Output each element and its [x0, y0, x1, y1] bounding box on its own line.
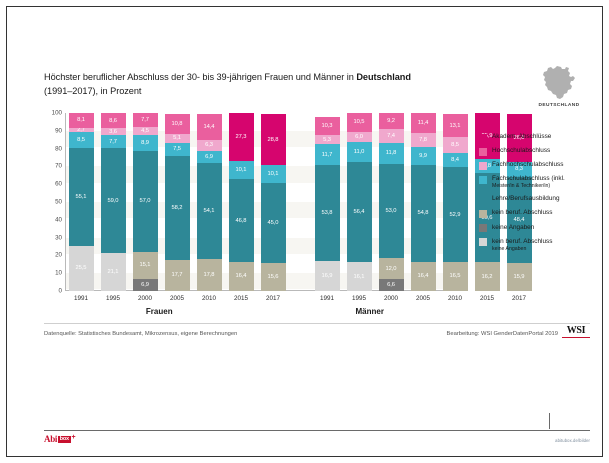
bar-segment-hochschule[interactable]: 10,5	[347, 113, 372, 132]
bar-segment-kein_keine[interactable]: 16,1	[347, 262, 372, 291]
bar-segment-lehre[interactable]: 57,0	[133, 151, 158, 252]
bar-segment-value: 6,6	[387, 282, 395, 288]
bar-segment-value: 16,9	[322, 273, 333, 279]
legend-label: Hochschulabschluss	[492, 147, 550, 155]
bar-segment-value: 8,6	[109, 118, 117, 124]
bar-segment-value: 12,0	[386, 266, 397, 272]
title-text-bold: Deutschland	[356, 72, 411, 82]
bar-segment-value: 7,7	[109, 139, 117, 145]
bar-segment-keine_angaben[interactable]: 6,6	[379, 279, 404, 291]
x-label-group: 1991199520002005201020152017	[311, 295, 535, 302]
bar-segment-fachschule[interactable]: 11,0	[347, 142, 372, 162]
x-tick-label: 2017	[507, 295, 532, 302]
bar-segment-value: 7,7	[141, 117, 149, 123]
bar-segment-kein_abschluss[interactable]: 16,5	[443, 262, 468, 291]
bar-segment-fachschule[interactable]: 7,5	[165, 143, 190, 156]
bar-segment-lehre[interactable]: 55,1	[69, 148, 94, 246]
x-tick-label: 1995	[101, 295, 126, 302]
legend-swatch-icon	[479, 238, 487, 246]
bar-segment-value: 8,1	[77, 117, 85, 123]
legend-label: Fachschulabschluss (inkl.Meister/in & Te…	[492, 175, 565, 190]
bar-segment-fachschule[interactable]: 10,1	[261, 165, 286, 183]
x-tick-label: 2015	[475, 295, 500, 302]
bar-segment-hochschule[interactable]: 14,4	[197, 114, 222, 140]
bar-segment-value: 54,1	[204, 208, 215, 214]
legend-item-fachschule[interactable]: Fachschulabschluss (inkl.Meister/in & Te…	[479, 175, 599, 190]
stacked-bar[interactable]: 10,85,17,558,217,7	[165, 113, 190, 291]
abi-logo-word2: box	[58, 436, 71, 443]
bar-segment-value: 58,2	[172, 205, 183, 211]
y-tick-label: 0	[59, 288, 62, 295]
bar-segment-value: 7,5	[173, 146, 181, 152]
bar-segment-value: 14,4	[204, 124, 215, 130]
bar-segment-value: 4,5	[141, 128, 149, 134]
bar-segment-lehre[interactable]: 53,8	[315, 165, 340, 261]
bar-segment-value: 3,6	[109, 129, 117, 135]
legend-swatch-icon	[479, 196, 487, 204]
group-gap	[289, 295, 311, 302]
stacked-bar[interactable]: 28,810,145,015,6	[261, 113, 286, 291]
bar-segment-fachhochschule[interactable]: 6,3	[197, 140, 222, 151]
bottom-divider	[44, 430, 590, 431]
bar-segment-fachschule[interactable]: 11,8	[379, 143, 404, 164]
bar-segment-kein_keine[interactable]: 21,1	[101, 253, 126, 291]
legend-item-akadem[interactable]: Akadem. Abschlüsse	[479, 133, 599, 142]
bar-segment-kein_abschluss[interactable]: 15,9	[507, 263, 532, 291]
legend-label: kein beruf. Abschluss	[492, 209, 552, 217]
bar-segment-kein_abschluss[interactable]: 17,7	[165, 260, 190, 292]
abi-logo-plus: +	[71, 434, 75, 441]
bar-segment-lehre[interactable]: 52,9	[443, 167, 468, 261]
wsi-logo: WSI	[562, 326, 590, 338]
legend-label: Akadem. Abschlüsse	[492, 133, 551, 141]
bar-segment-value: 16,4	[236, 273, 247, 279]
x-tick-label: 2015	[229, 295, 254, 302]
bar-segment-value: 52,9	[450, 212, 461, 218]
bar-segment-lehre[interactable]: 53,0	[379, 164, 404, 258]
legend-label: Fachhochschulabschluss	[492, 161, 563, 169]
bar-segment-value: 13,1	[450, 123, 461, 129]
bar-segment-kein_abschluss[interactable]: 16,4	[411, 262, 436, 291]
legend-swatch-icon	[479, 224, 487, 232]
group-gap	[254, 307, 276, 316]
legend-swatch-icon	[479, 134, 487, 142]
bar-segment-hochschule[interactable]: 9,2	[379, 113, 404, 129]
bar-segment-value: 17,7	[172, 272, 183, 278]
bar-segment-kein_keine[interactable]: 25,5	[69, 246, 94, 291]
bar-segment-kein_abschluss[interactable]: 16,4	[229, 262, 254, 291]
x-tick-label: 2005	[165, 295, 190, 302]
editor-note: Bearbeitung: WSI GenderDatenPortal 2019	[447, 331, 559, 337]
bar-segment-value: 15,9	[514, 274, 525, 280]
legend-label: kein beruf. Abschlusskeine Angaben	[492, 238, 552, 253]
x-tick-label: 2000	[379, 295, 404, 302]
bar-segment-value: 15,6	[268, 274, 279, 280]
bar-segment-kein_abschluss[interactable]: 15,6	[261, 263, 286, 291]
legend-swatch-icon	[479, 162, 487, 170]
bar-segment-hochschule[interactable]: 11,4	[411, 113, 436, 133]
bar-segment-fachschule[interactable]: 10,1	[229, 161, 254, 179]
bar-segment-value: 6,0	[355, 134, 363, 140]
bar-segment-value: 8,9	[141, 140, 149, 146]
x-tick-label: 2010	[443, 295, 468, 302]
x-tick-label: 1995	[347, 295, 372, 302]
bar-segment-fachschule[interactable]: 8,4	[443, 153, 468, 168]
bar-segment-value: 10,5	[354, 119, 365, 125]
bar-segment-fachschule[interactable]: 8,9	[133, 135, 158, 151]
legend-item-kein_abschluss[interactable]: kein beruf. Abschluss	[479, 209, 599, 218]
bar-segment-lehre[interactable]: 45,0	[261, 183, 286, 263]
bar-segment-fachschule[interactable]: 8,5	[69, 132, 94, 147]
bar-segment-value: 6,3	[205, 142, 213, 148]
bar-segment-value: 8,5	[451, 142, 459, 148]
bar-segment-value: 56,4	[354, 209, 365, 215]
x-tick-label: 1991	[69, 295, 94, 302]
bar-segment-value: 25,5	[76, 265, 87, 271]
x-tick-label: 2005	[411, 295, 436, 302]
bar-segment-kein_abschluss[interactable]: 12,0	[379, 258, 404, 279]
y-tick-label: 60	[55, 181, 62, 188]
bar-segment-fachschule[interactable]: 9,9	[411, 147, 436, 165]
legend-label-sub: keine Angaben	[492, 246, 552, 253]
bar-segment-fachhochschule[interactable]: 6,0	[347, 132, 372, 143]
bar-segment-hochschule[interactable]: 10,8	[165, 114, 190, 133]
legend-swatch-icon	[479, 176, 487, 184]
bar-segment-lehre[interactable]: 56,4	[347, 162, 372, 262]
group-title-frauen: Frauen	[65, 307, 254, 316]
legend-label: keine Angaben	[492, 224, 534, 232]
bar-segment-fachschule[interactable]: 6,9	[197, 151, 222, 163]
stacked-bar[interactable]: 10,56,011,056,416,1	[347, 113, 372, 291]
abi-logo-word1: Abi	[44, 434, 57, 444]
legend-item-fachhochschule[interactable]: Fachhochschulabschluss	[479, 161, 599, 170]
bar-segment-value: 54,8	[418, 210, 429, 216]
corner-tick	[549, 413, 550, 429]
bar-segment-value: 46,8	[236, 218, 247, 224]
bar-segment-value: 8,5	[77, 137, 85, 143]
bar-segment-kein_keine[interactable]: 16,9	[315, 261, 340, 291]
bar-segment-value: 7,4	[387, 133, 395, 139]
bar-segment-akadem[interactable]: 28,8	[261, 114, 286, 165]
bar-segment-hochschule[interactable]: 13,1	[443, 114, 468, 137]
bar-segment-value: 10,8	[172, 121, 183, 127]
x-tick-label: 1991	[315, 295, 340, 302]
bar-segment-fachhochschule[interactable]: 8,5	[443, 137, 468, 152]
stacked-bar[interactable]: 8,12,78,555,125,5	[69, 113, 94, 291]
stacked-bar[interactable]: 11,47,89,954,816,4	[411, 113, 436, 291]
title-line-1: Höchster beruflicher Abschluss der 30- b…	[44, 71, 474, 85]
map-caption: DEUTSCHLAND	[528, 103, 590, 108]
bar-segment-keine_angaben[interactable]: 6,9	[133, 279, 158, 291]
bar-segment-value: 11,4	[418, 120, 428, 126]
stacked-bar[interactable]: 13,18,58,452,916,5	[443, 113, 468, 291]
abi-logo: Abi box +	[44, 434, 76, 444]
bar-segment-value: 5,3	[323, 137, 331, 143]
bar-segment-value: 9,9	[419, 153, 427, 159]
source-note: Datenquelle: Statistisches Bundesamt, Mi…	[44, 331, 237, 337]
y-tick-label: 30	[55, 234, 62, 241]
bar-segment-value: 10,3	[322, 123, 333, 129]
slide-frame: Höchster beruflicher Abschluss der 30- b…	[6, 6, 603, 457]
bar-segment-value: 53,8	[322, 210, 333, 216]
stacked-bar[interactable]: 9,27,411,853,012,06,6	[379, 113, 404, 291]
group-titles: FrauenMänner	[65, 307, 464, 316]
bar-segment-value: 10,1	[236, 167, 247, 173]
y-tick-label: 50	[55, 199, 62, 206]
x-label-group: 1991199520002005201020152017	[65, 295, 289, 302]
bar-segment-hochschule[interactable]: 7,7	[133, 113, 158, 127]
legend-item-keine_angaben[interactable]: keine Angaben	[479, 224, 599, 233]
bar-segment-value: 10,1	[268, 171, 279, 177]
bar-segment-value: 6,9	[141, 282, 149, 288]
bar-segment-value: 6,9	[205, 154, 213, 160]
stacked-bar[interactable]: 10,35,311,753,816,9	[315, 113, 340, 291]
slide-page: Höchster beruflicher Abschluss der 30- b…	[0, 0, 609, 463]
bar-segment-value: 59,0	[108, 198, 119, 204]
bar-segment-lehre[interactable]: 58,2	[165, 156, 190, 260]
bar-segment-value: 55,1	[76, 194, 87, 200]
bar-segment-fachhochschule[interactable]: 4,5	[133, 127, 158, 135]
bar-segment-hochschule[interactable]: 8,6	[101, 113, 126, 128]
bar-segment-fachschule[interactable]: 7,7	[101, 135, 126, 149]
stacked-bar[interactable]: 14,46,36,954,117,8	[197, 113, 222, 291]
bar-segment-kein_abschluss[interactable]: 16,2	[475, 262, 500, 291]
slide-canvas: Höchster beruflicher Abschluss der 30- b…	[21, 21, 602, 456]
legend-swatch-icon	[479, 210, 487, 218]
legend-label: Lehre/Berufsausbildung	[492, 195, 560, 203]
bar-segment-value: 53,0	[386, 208, 397, 214]
bar-segment-fachhochschule[interactable]: 7,4	[379, 129, 404, 142]
bar-segment-value: 17,8	[204, 272, 215, 278]
bar-segment-lehre[interactable]: 59,0	[101, 148, 126, 253]
page-title: Höchster beruflicher Abschluss der 30- b…	[44, 71, 474, 99]
bar-segment-hochschule[interactable]: 8,1	[69, 113, 94, 127]
bar-segment-lehre[interactable]: 54,8	[411, 165, 436, 262]
bar-segment-value: 21,1	[108, 269, 119, 275]
stacked-bar[interactable]: 27,310,146,816,4	[229, 113, 254, 291]
bar-segment-value: 16,2	[482, 274, 493, 280]
bar-segment-value: 11,8	[386, 150, 396, 156]
stacked-bar[interactable]: 8,63,67,759,021,1	[101, 113, 126, 291]
bar-group-frauen: 8,12,78,555,125,58,63,67,759,021,17,74,5…	[65, 113, 289, 291]
y-tick-label: 20	[55, 252, 62, 259]
credit-note: abitubox.de/bilder	[555, 438, 590, 443]
x-tick-label: 2000	[133, 295, 158, 302]
bar-segment-value: 28,8	[268, 137, 279, 143]
germany-map-block: DEUTSCHLAND	[528, 65, 590, 108]
chart: 0102030405060708090100 8,12,78,555,125,5…	[44, 113, 464, 291]
group-title-männer: Männer	[276, 307, 465, 316]
bar-segment-akadem[interactable]: 27,3	[229, 113, 254, 161]
bar-segment-lehre[interactable]: 46,8	[229, 179, 254, 262]
y-tick-label: 40	[55, 216, 62, 223]
bar-segment-value: 7,8	[419, 137, 427, 143]
bar-segment-value: 16,1	[354, 274, 365, 280]
x-tick-label: 2010	[197, 295, 222, 302]
bar-segment-value: 27,3	[236, 134, 247, 140]
bar-segment-value: 16,4	[418, 273, 429, 279]
title-line-2: (1991–2017), in Prozent	[44, 85, 474, 99]
legend-label-sub: Meister/in & Techniker/in)	[492, 183, 565, 190]
bar-segment-value: 8,4	[451, 157, 459, 163]
legend-item-lehre[interactable]: Lehre/Berufsausbildung	[479, 195, 599, 204]
bar-segment-value: 57,0	[140, 198, 151, 204]
germany-map-icon	[537, 65, 581, 101]
bar-segment-value: 45,0	[268, 220, 279, 226]
y-tick-label: 100	[52, 110, 62, 117]
bar-segment-fachhochschule[interactable]: 7,8	[411, 133, 436, 147]
y-tick-label: 70	[55, 163, 62, 170]
x-axis-labels: 1991199520002005201020152017199119952000…	[65, 295, 464, 302]
y-tick-label: 80	[55, 145, 62, 152]
bar-segment-fachhochschule[interactable]: 5,3	[315, 135, 340, 144]
bar-segment-fachhochschule[interactable]: 5,1	[165, 134, 190, 143]
title-text-plain: Höchster beruflicher Abschluss der 30- b…	[44, 72, 356, 82]
bar-segment-hochschule[interactable]: 10,3	[315, 117, 340, 135]
bar-segment-value: 16,5	[450, 273, 461, 279]
bar-segment-value: 11,0	[354, 149, 364, 155]
bar-segment-value: 9,2	[387, 118, 395, 124]
legend-item-hochschule[interactable]: Hochschulabschluss	[479, 147, 599, 156]
bar-segment-value: 5,1	[173, 135, 181, 141]
x-tick-label: 2017	[261, 295, 286, 302]
bar-segment-lehre[interactable]: 54,1	[197, 163, 222, 259]
y-tick-label: 10	[55, 270, 62, 277]
chart-legend: Akadem. AbschlüsseHochschulabschlussFach…	[479, 133, 599, 258]
legend-item-kein_keine[interactable]: kein beruf. Abschlusskeine Angaben	[479, 238, 599, 253]
bar-segment-fachschule[interactable]: 11,7	[315, 144, 340, 165]
bar-segment-kein_abschluss[interactable]: 15,1	[133, 252, 158, 279]
bar-series: 8,12,78,555,125,58,63,67,759,021,17,74,5…	[65, 113, 464, 291]
y-tick-label: 90	[55, 127, 62, 134]
bar-segment-value: 15,1	[140, 262, 151, 268]
bar-segment-value: 11,7	[322, 152, 332, 158]
bar-segment-kein_abschluss[interactable]: 17,8	[197, 259, 222, 291]
stacked-bar[interactable]: 7,74,58,957,015,16,9	[133, 113, 158, 291]
footer-divider	[44, 323, 590, 324]
legend-swatch-icon	[479, 148, 487, 156]
